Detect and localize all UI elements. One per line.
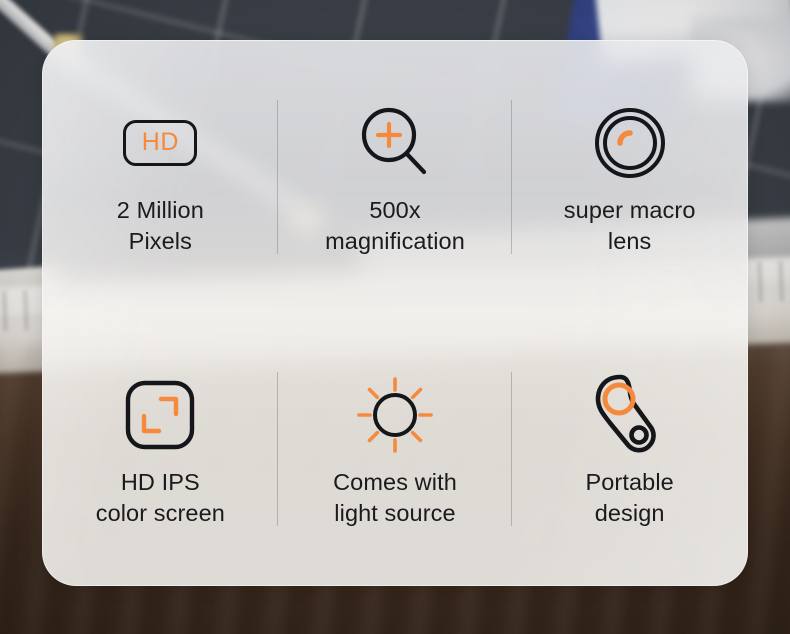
magnifier-plus-icon xyxy=(354,97,436,189)
feature-item-macro-lens: super macro lens xyxy=(512,41,747,313)
feature-item-portable: Portable design xyxy=(512,313,747,585)
feature-label-screen: HD IPS color screen xyxy=(96,467,225,529)
feature-label-pixels: 2 Million Pixels xyxy=(117,195,204,257)
camera-lens-icon xyxy=(592,97,668,189)
hd-badge-icon: HD xyxy=(123,97,197,189)
feature-grid: HD 2 Million Pixels 500x magnification xyxy=(43,41,747,585)
feature-item-screen: HD IPS color screen xyxy=(43,313,278,585)
feature-label-magnification: 500x magnification xyxy=(325,195,465,257)
feature-card: HD 2 Million Pixels 500x magnification xyxy=(42,40,748,586)
feature-label-macro-lens: super macro lens xyxy=(564,195,696,257)
feature-label-light-source: Comes with light source xyxy=(333,467,457,529)
sun-brightness-icon xyxy=(355,369,435,461)
feature-item-pixels: HD 2 Million Pixels xyxy=(43,41,278,313)
feature-item-light-source: Comes with light source xyxy=(278,313,513,585)
feature-item-magnification: 500x magnification xyxy=(278,41,513,313)
screen-corners-icon xyxy=(125,369,195,461)
portable-keyfob-icon xyxy=(594,369,666,461)
hd-badge-label: HD xyxy=(142,130,179,155)
feature-label-portable: Portable design xyxy=(585,467,673,529)
